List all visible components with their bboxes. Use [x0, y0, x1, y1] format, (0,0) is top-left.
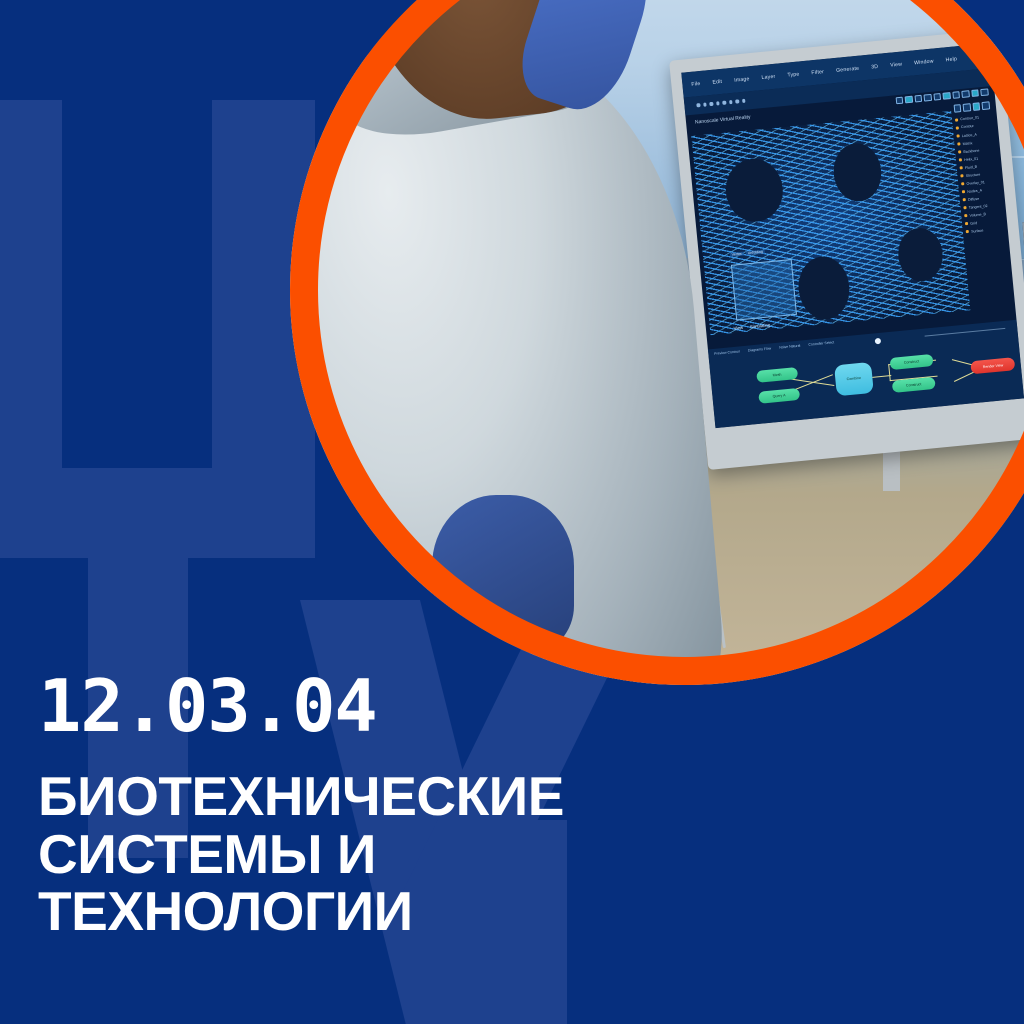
panel-icon[interactable]	[915, 94, 923, 102]
flow-node-render-view[interactable]: Render View	[971, 357, 1016, 374]
panel-icon[interactable]	[934, 92, 942, 100]
flow-controls[interactable]	[875, 337, 882, 344]
layer-row[interactable]: Surface	[966, 226, 1003, 234]
layer-name: Overlay_01	[966, 179, 985, 185]
viewport-settings-popup[interactable]	[731, 259, 797, 320]
panel-icon[interactable]	[981, 88, 989, 96]
layer-name: Nodes_A	[967, 188, 982, 193]
layer-row[interactable]: Tangent_02	[964, 202, 1001, 210]
researcher-glove-lower	[432, 495, 574, 653]
layer-row[interactable]: Backbone	[958, 146, 995, 154]
layer-name: Grid	[970, 220, 977, 225]
layer-visibility-icon[interactable]	[962, 190, 965, 193]
panel-icon[interactable]	[924, 93, 932, 101]
panel-icon[interactable]	[952, 90, 960, 98]
layer-visibility-icon[interactable]	[958, 150, 961, 153]
layer-visibility-icon[interactable]	[965, 222, 968, 225]
flow-column-headers: Preview Contour Diagrams Flow Noise Natu…	[714, 336, 875, 356]
flow-wire	[873, 375, 892, 378]
flow-play-icon[interactable]	[875, 337, 882, 344]
document-title: Nanoscale Virtual Reality	[695, 114, 751, 125]
menu-item-help[interactable]: Help	[946, 55, 958, 62]
menu-item-view[interactable]: View	[890, 61, 902, 68]
layer-row[interactable]: Helix_01	[959, 154, 996, 162]
menu-item-type[interactable]: Type	[787, 71, 800, 78]
laboratory-photo: File Edit Image Layer Type Filter Genera…	[290, 0, 1024, 685]
layer-name: Contour_01	[960, 115, 979, 121]
flow-divider	[925, 328, 1005, 336]
panel-icon[interactable]	[954, 104, 962, 112]
layer-visibility-icon[interactable]	[955, 118, 958, 121]
layer-visibility-icon[interactable]	[964, 206, 967, 209]
layer-name: Surface	[971, 228, 984, 233]
layer-name: Contour	[961, 124, 974, 129]
layer-row[interactable]: Contour	[956, 122, 993, 130]
toolbar-tool-icon[interactable]	[703, 102, 707, 106]
layer-name: Tangent_02	[969, 203, 988, 209]
panel-icon[interactable]	[962, 89, 970, 97]
toolbar-tool-icon[interactable]	[722, 100, 726, 104]
toolbar-tool-icon[interactable]	[716, 101, 720, 105]
flow-header-diagrams: Diagrams Flow	[748, 346, 772, 353]
layer-visibility-icon[interactable]	[959, 158, 962, 161]
flow-node-query[interactable]: Query A	[759, 388, 800, 404]
menu-item-3d[interactable]: 3D	[871, 63, 879, 70]
layer-row[interactable]: Matrix	[958, 138, 995, 146]
menu-item-window[interactable]: Window	[914, 58, 934, 66]
layer-row[interactable]: Grid	[965, 218, 1002, 226]
speciality-code: 12.03.04	[38, 670, 918, 742]
status-view: View	[733, 324, 743, 330]
panel-icon-active[interactable]	[943, 91, 951, 99]
panel-icon-active[interactable]	[973, 102, 981, 110]
menu-item-generate[interactable]: Generate	[836, 65, 860, 73]
layer-visibility-icon[interactable]	[966, 230, 969, 233]
speciality-card: ТУ File Edit Image	[0, 0, 1024, 1024]
menu-item-edit[interactable]: Edit	[712, 78, 722, 85]
layer-name: Lattice_A	[962, 132, 977, 137]
monitor-screen: File Edit Image Layer Type Filter Genera…	[681, 43, 1024, 428]
layer-row[interactable]: Nodes_A	[962, 186, 999, 194]
layer-name: Structure	[966, 172, 981, 177]
flow-node-combine[interactable]: Combine	[834, 361, 874, 396]
lab-monitor: File Edit Image Layer Type Filter Genera…	[669, 29, 1024, 470]
layer-visibility-icon[interactable]	[961, 174, 964, 177]
toolbar-tool-icon[interactable]	[696, 103, 700, 107]
layer-visibility-icon[interactable]	[965, 214, 968, 217]
circular-photo-frame: File Edit Image Layer Type Filter Genera…	[290, 0, 1024, 685]
layer-visibility-icon[interactable]	[958, 142, 961, 145]
panel-icon-active[interactable]	[905, 95, 913, 103]
layer-visibility-icon[interactable]	[957, 134, 960, 137]
panel-icon-active[interactable]	[971, 89, 979, 97]
speciality-title: БИОТЕХНИЧЕСКИЕ СИСТЕМЫ И ТЕХНОЛОГИИ	[38, 768, 918, 940]
layer-row[interactable]: Fluid_B	[960, 162, 997, 170]
layer-row[interactable]: Overlay_01	[961, 178, 998, 186]
watermark-letter-t-crossbar	[0, 468, 315, 558]
layer-name: Volume_B	[970, 212, 987, 218]
layer-name: Diffuse	[968, 196, 979, 201]
menu-item-filter[interactable]: Filter	[811, 68, 824, 75]
toolbar-tool-icon[interactable]	[709, 102, 713, 106]
toolbar-tool-icon[interactable]	[735, 99, 739, 103]
title-line-3: ТЕХНОЛОГИИ	[38, 883, 918, 940]
toolbar-tool-icon[interactable]	[729, 100, 733, 104]
layer-visibility-icon[interactable]	[960, 166, 963, 169]
viewport-tab-vertex[interactable]: Vertex	[730, 251, 745, 256]
layer-visibility-icon[interactable]	[962, 182, 965, 185]
title-line-1: БИОТЕХНИЧЕСКИЕ	[38, 768, 918, 825]
toolbar-tool-icon[interactable]	[742, 98, 746, 102]
layer-row[interactable]: Volume_B	[965, 210, 1002, 218]
layer-row[interactable]: Lattice_A	[957, 130, 994, 138]
layer-name: Backbone	[963, 148, 979, 154]
layer-visibility-icon[interactable]	[956, 126, 959, 129]
menu-item-file[interactable]: File	[691, 80, 701, 87]
flow-header-preview: Preview Contour	[714, 349, 740, 356]
menu-item-image[interactable]: Image	[734, 75, 750, 82]
layer-name: Matrix	[963, 140, 973, 145]
panel-icon[interactable]	[963, 103, 971, 111]
layer-row[interactable]: Diffuse	[963, 194, 1000, 202]
panel-icon[interactable]	[896, 96, 904, 104]
flow-header-noise: Noise Natural	[779, 343, 801, 349]
title-line-2: СИСТЕМЫ И	[38, 826, 918, 883]
flow-node-mesh[interactable]: Mesh	[757, 367, 798, 383]
layer-name: Helix_01	[964, 156, 978, 161]
watermark-letter-t-left-bar	[0, 100, 62, 468]
layer-visibility-icon[interactable]	[963, 198, 966, 201]
flow-header-controller: Controller Select	[808, 339, 834, 346]
layer-name: Fluid_B	[965, 164, 978, 169]
panel-icon[interactable]	[982, 101, 990, 109]
menu-item-layer[interactable]: Layer	[761, 73, 775, 80]
headline-block: 12.03.04 БИОТЕХНИЧЕСКИЕ СИСТЕМЫ И ТЕХНОЛ…	[38, 670, 918, 940]
layer-row[interactable]: Structure	[961, 170, 998, 178]
